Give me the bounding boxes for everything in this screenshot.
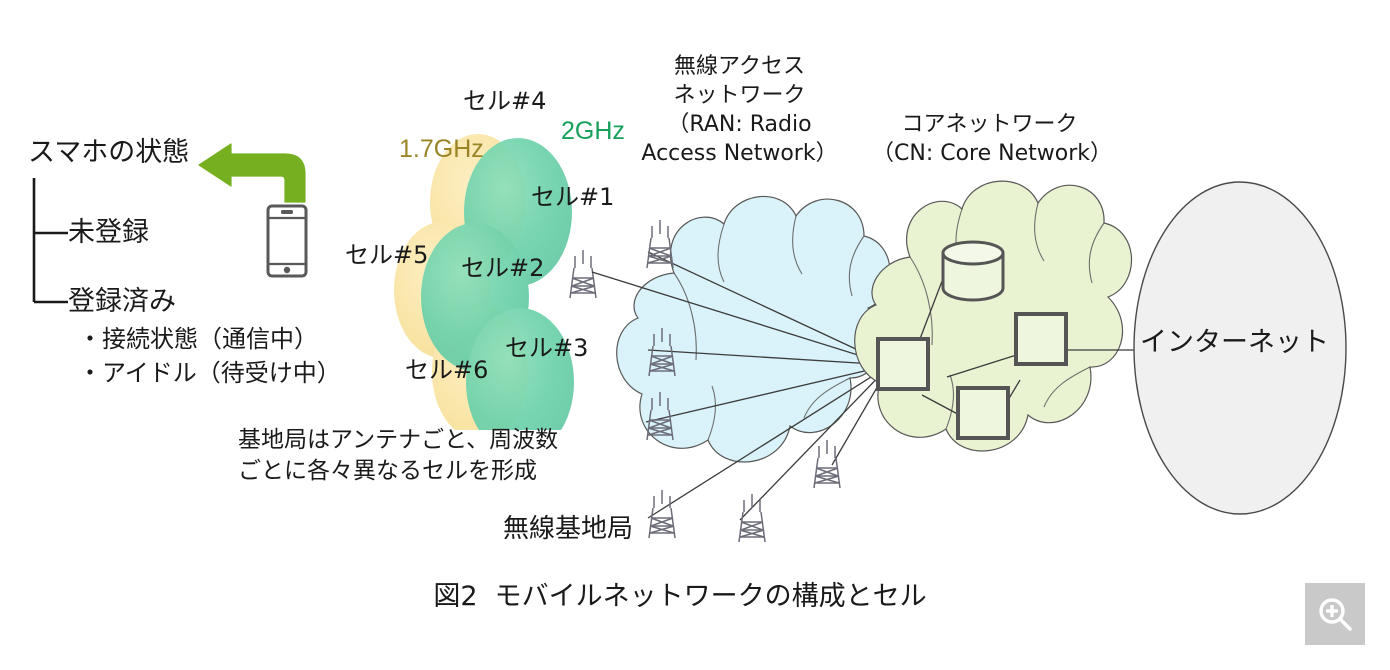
internet-label: インターネット bbox=[1140, 326, 1329, 361]
base-station-label: 無線基地局 bbox=[503, 513, 633, 546]
cell-6-label: セル#6 bbox=[405, 355, 488, 386]
cn-node-2 bbox=[1014, 312, 1068, 366]
figure-caption: 図2 モバイルネットワークの構成とセル bbox=[395, 580, 965, 615]
cell-formation-note: 基地局はアンテナごと、周波数 ごとに各々異なるセルを形成 bbox=[238, 425, 558, 487]
zoom-in-icon bbox=[1316, 595, 1354, 633]
cell-tower-icon bbox=[643, 390, 677, 442]
label-17ghz: 1.7GHz bbox=[399, 133, 484, 165]
state-item-unregistered: 未登録 bbox=[68, 216, 149, 251]
cell-1-label: セル#1 bbox=[531, 182, 614, 213]
cell-tower-icon bbox=[810, 438, 844, 490]
database-cylinder-icon bbox=[938, 240, 1008, 302]
cell-tower-icon bbox=[645, 326, 679, 378]
cell-4-label: セル#4 bbox=[463, 86, 546, 117]
cn-node-3 bbox=[956, 386, 1010, 440]
cn-title: コアネットワーク （CN: Core Network） bbox=[872, 110, 1107, 168]
figure-canvas: スマホの状態 未登録 登録済み ・接続状態（通信中） ・アイドル（待受け中） bbox=[0, 0, 1390, 670]
cell-2-label: セル#2 bbox=[461, 253, 544, 284]
smartphone-icon bbox=[265, 203, 309, 279]
label-2ghz: 2GHz bbox=[561, 115, 625, 147]
cell-5-label: セル#5 bbox=[345, 240, 428, 271]
zoom-in-button[interactable] bbox=[1305, 583, 1365, 645]
cell-tower-icon bbox=[735, 492, 769, 544]
ran-title: 無線アクセス ネットワーク （RAN: Radio Access Network… bbox=[632, 52, 847, 168]
cell-tower-icon bbox=[643, 218, 677, 270]
cell-tower-icon bbox=[645, 488, 679, 540]
state-item-registered: 登録済み bbox=[68, 285, 176, 320]
cn-node-1 bbox=[876, 337, 930, 391]
curved-arrow-left-icon bbox=[193, 142, 313, 204]
state-sub-connected: ・接続状態（通信中） bbox=[78, 324, 318, 355]
state-sub-idle: ・アイドル（待受け中） bbox=[78, 358, 341, 389]
